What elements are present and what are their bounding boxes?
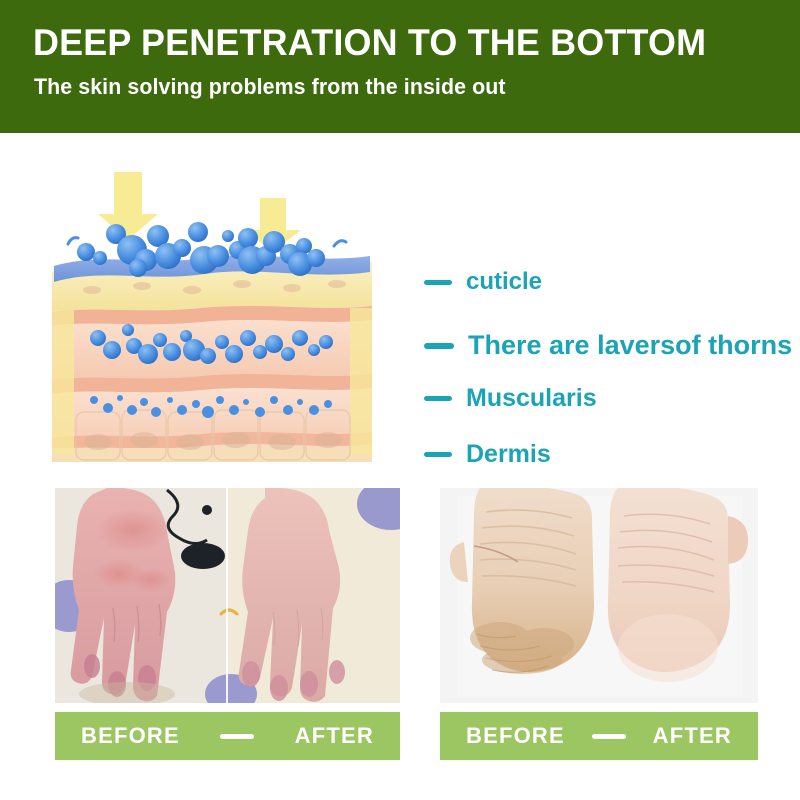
legend-label: Muscularis xyxy=(466,386,597,411)
legend-dash-icon xyxy=(424,280,452,285)
heels-comparison-photo xyxy=(440,488,758,703)
header-banner: DEEP PENETRATION TO THE BOTTOM The skin … xyxy=(0,0,800,133)
legend-item-muscularis: Muscularis xyxy=(424,386,597,411)
page-title: DEEP PENETRATION TO THE BOTTOM xyxy=(33,22,706,64)
before-label: BEFORE xyxy=(466,725,565,747)
legend-label: There are laversof thorns xyxy=(468,332,792,359)
after-label: AFTER xyxy=(295,725,374,747)
legend-item-cuticle: cuticle xyxy=(424,270,542,294)
separator-dash-icon xyxy=(592,734,626,739)
legend-dash-icon xyxy=(424,343,454,349)
before-after-bar-heels: BEFORE AFTER xyxy=(440,712,758,760)
page-subtitle: The skin solving problems from the insid… xyxy=(34,74,506,100)
before-after-bar-hands: BEFORE AFTER xyxy=(55,712,400,760)
hands-comparison-photo xyxy=(55,488,400,703)
separator-dash-icon xyxy=(220,734,254,739)
before-label: BEFORE xyxy=(81,725,180,747)
legend-item-thorns: There are laversof thorns xyxy=(424,332,792,359)
legend-label: cuticle xyxy=(466,270,542,294)
legend-dash-icon xyxy=(424,452,452,457)
legend-item-dermis: Dermis xyxy=(424,442,551,467)
after-label: AFTER xyxy=(653,725,732,747)
legend-dash-icon xyxy=(424,396,452,401)
skin-cross-section-illustration xyxy=(52,160,372,462)
legend-label: Dermis xyxy=(466,442,551,467)
hand-before xyxy=(71,488,176,703)
infographic-page: DEEP PENETRATION TO THE BOTTOM The skin … xyxy=(0,0,800,800)
